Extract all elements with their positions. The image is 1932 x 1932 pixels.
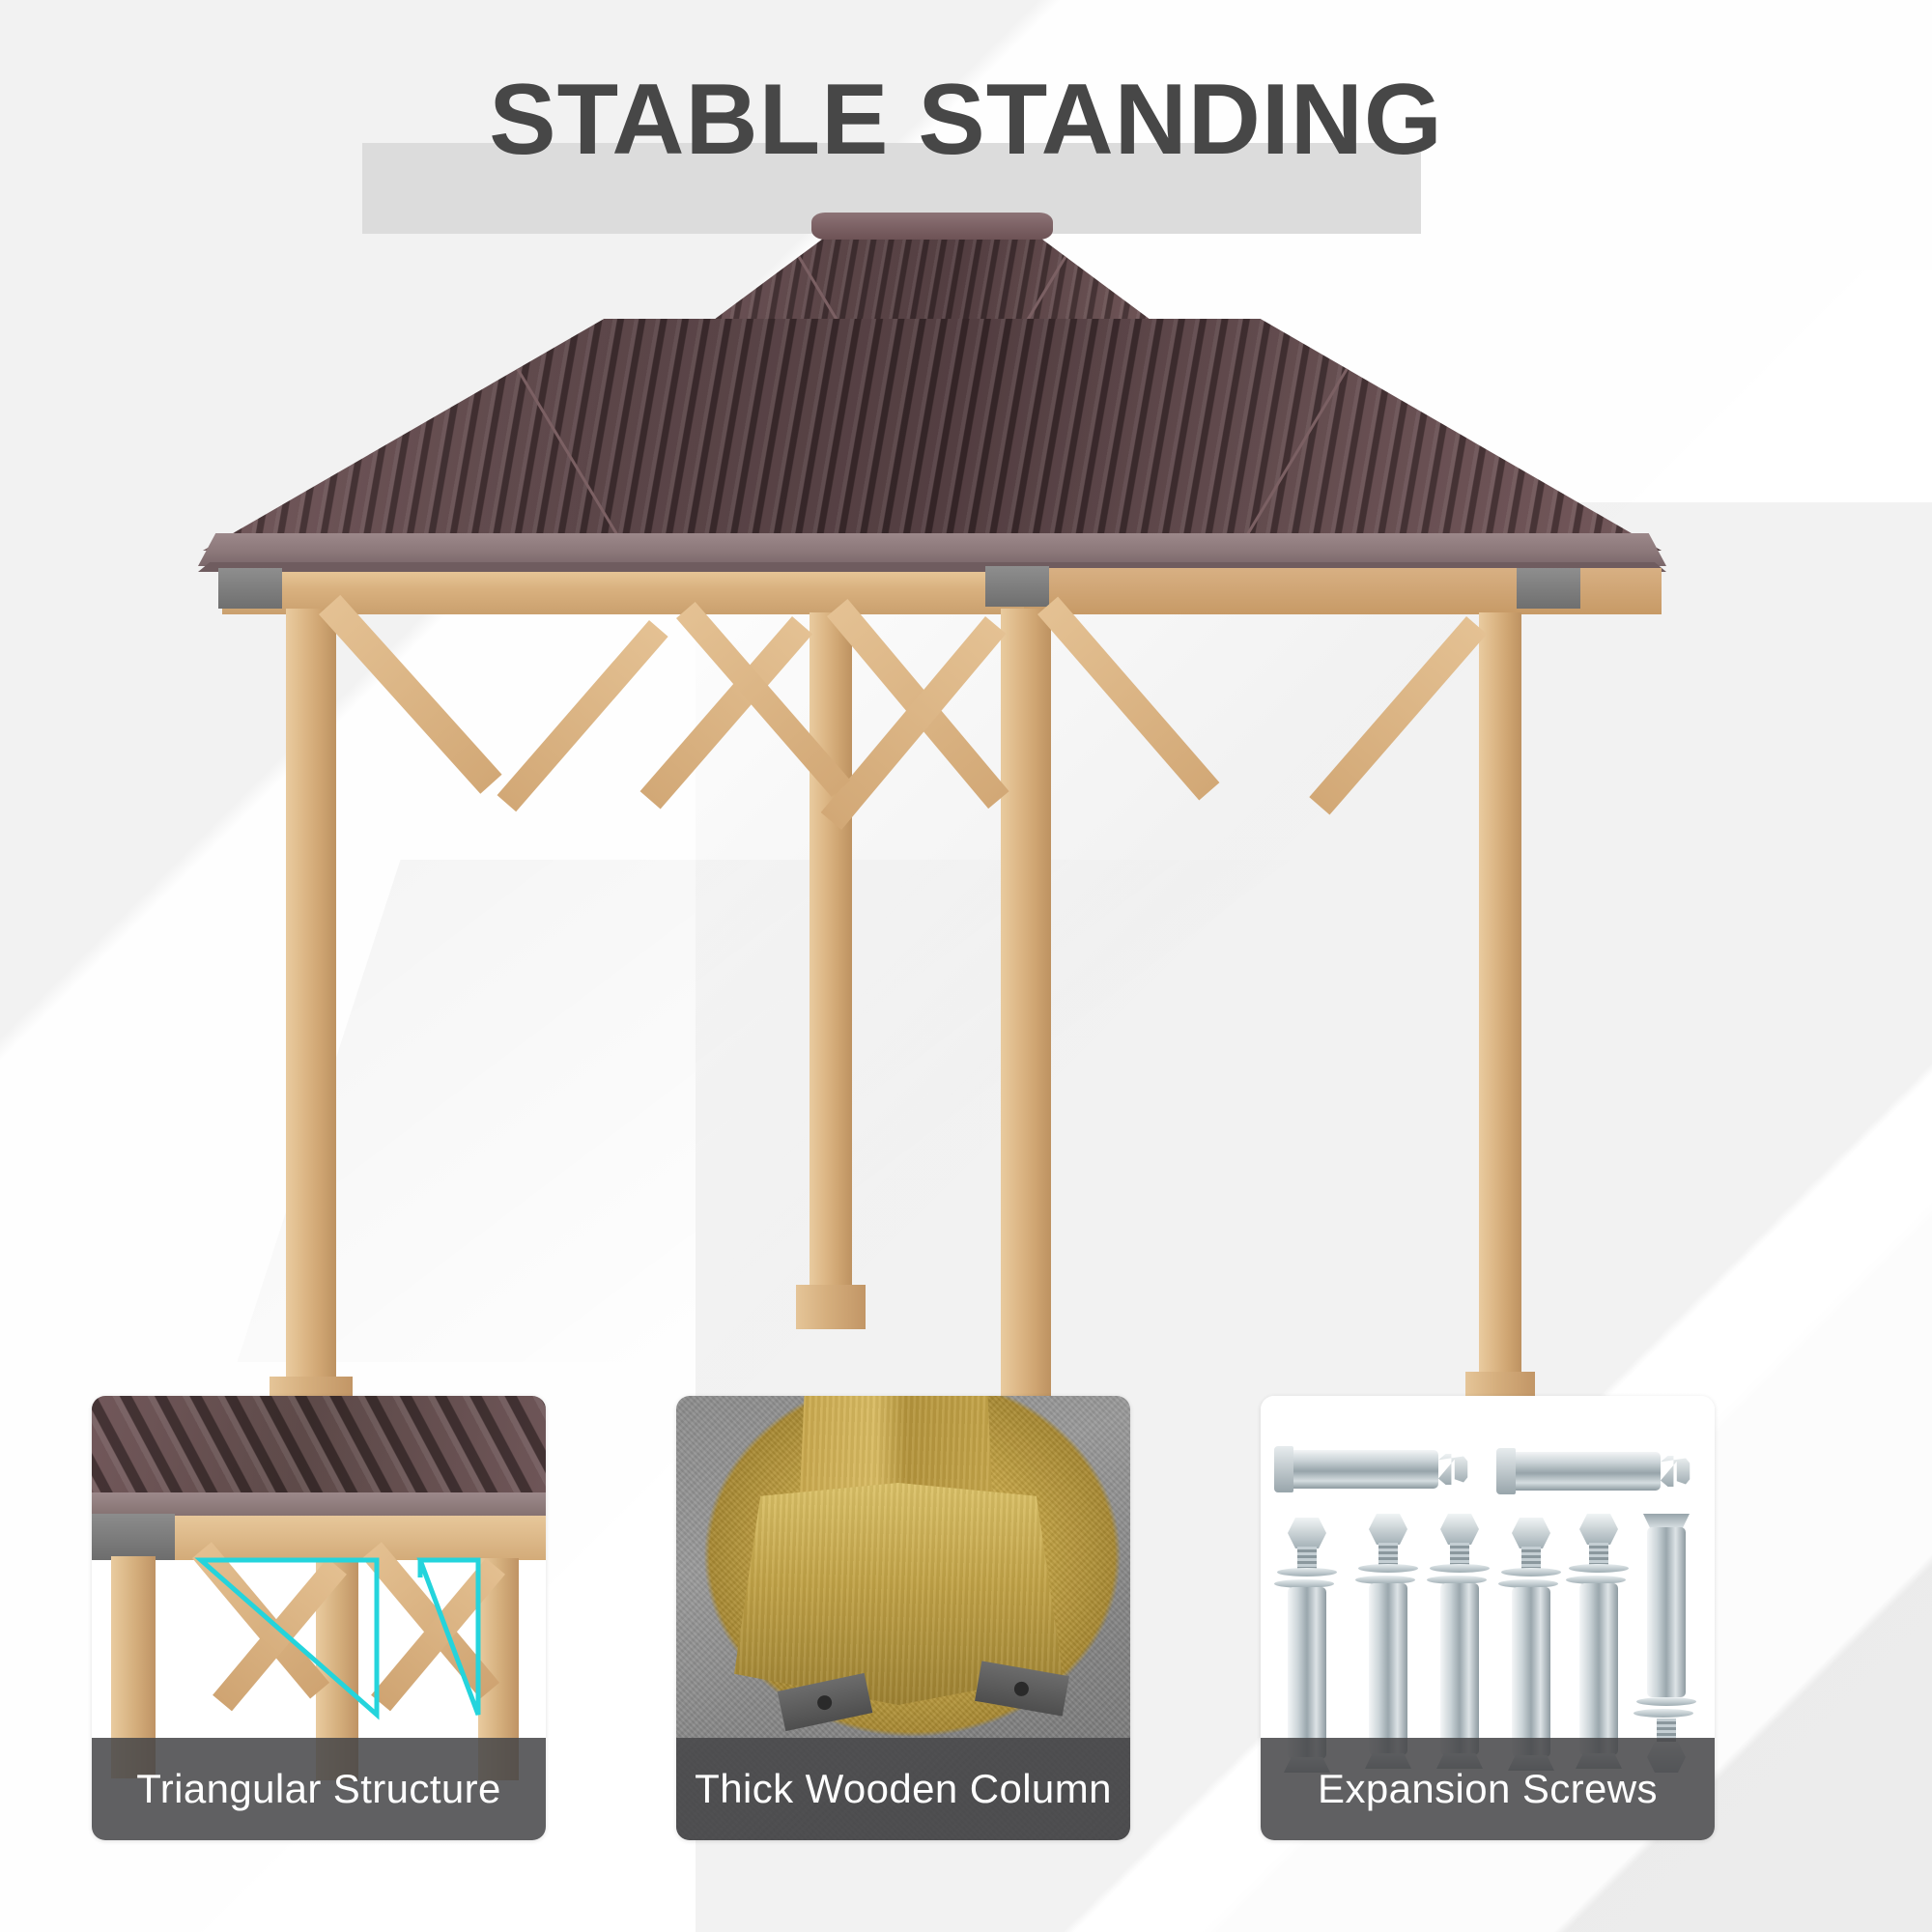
feature-panel-triangular-structure[interactable]: Triangular Structure xyxy=(92,1396,546,1840)
roof-lower-fascia xyxy=(198,533,1666,566)
corner-bracket-right xyxy=(1517,568,1580,609)
panel-3-caption: Expansion Screws xyxy=(1261,1738,1715,1840)
panel-1-caption: Triangular Structure xyxy=(92,1738,546,1840)
roof-ridge-cap xyxy=(811,213,1053,240)
post-base-rear-center xyxy=(796,1285,866,1329)
corner-bracket-left xyxy=(218,568,282,609)
gazebo-post-front-right xyxy=(1479,612,1521,1376)
expansion-screw-horizontal-1 xyxy=(1284,1450,1438,1489)
feature-panels: Triangular Structure Thick Wooden Column xyxy=(0,1396,1932,1850)
feature-panel-expansion-screws[interactable]: Expansion Screws xyxy=(1261,1396,1715,1840)
expansion-screw-horizontal-2 xyxy=(1506,1452,1661,1491)
corner-brace-left-1 xyxy=(319,595,502,794)
page-title: STABLE STANDING xyxy=(0,70,1932,170)
gazebo-post-rear-center xyxy=(810,612,852,1289)
gazebo-roof xyxy=(0,222,1932,570)
gazebo-post-front-left xyxy=(286,609,336,1381)
roof-lower-ribs xyxy=(203,319,1662,551)
corner-brace-right-1 xyxy=(1037,597,1219,801)
roof-lower-tier xyxy=(203,319,1662,551)
panel-2-caption: Thick Wooden Column xyxy=(676,1738,1130,1840)
corner-bracket-center xyxy=(985,566,1049,607)
hero-gazebo-illustration xyxy=(0,222,1932,1323)
feature-panel-thick-wooden-column[interactable]: Thick Wooden Column xyxy=(676,1396,1130,1840)
gazebo-post-front-center xyxy=(1001,609,1051,1517)
cross-brace-left-b xyxy=(497,620,668,811)
corner-brace-right-2 xyxy=(1309,616,1487,815)
